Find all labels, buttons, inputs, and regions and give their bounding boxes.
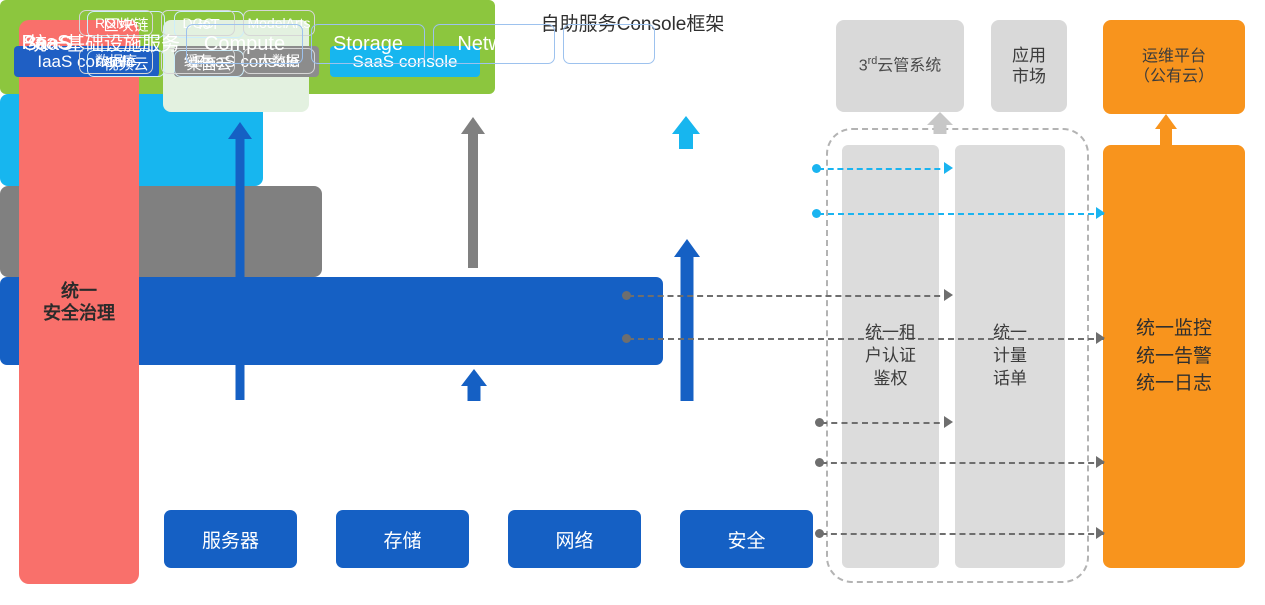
third-party-cloud-mgmt-label: 3rd云管系统 [859, 55, 942, 76]
arrow-shared-to-third-party [927, 112, 953, 134]
infra-chip-3-label: CCE [588, 33, 630, 56]
connector-saas-to-auth [818, 168, 950, 170]
security-governance-line2: 安全治理 [43, 302, 115, 325]
mid-col-0-line2: 户认证 [865, 345, 916, 368]
hardware-2-label: 网络 [555, 526, 593, 553]
ops-platform-header-line1: 运维平台 [1134, 47, 1214, 67]
infra-chip-compute[interactable]: Compute [186, 24, 303, 64]
third-party-suffix: 云管系统 [877, 58, 941, 75]
ops-platform-header-box[interactable]: 运维平台 （公有云） [1103, 20, 1245, 114]
connector-arrowhead-saas-ops [1096, 207, 1105, 219]
app-market-line2: 市场 [1012, 66, 1046, 87]
hardware-box-storage[interactable]: 存储 [336, 510, 469, 568]
unified-tenant-auth-column[interactable]: 统一租 户认证 鉴权 [842, 145, 939, 568]
connector-saas-to-ops [818, 213, 1104, 215]
ops-platform-body-line1: 统一监控 [1136, 315, 1212, 343]
connector-infra-to-auth [821, 422, 950, 424]
security-governance-panel[interactable]: 统一 安全治理 [19, 20, 139, 584]
ops-platform-header-line2: （公有云） [1134, 67, 1214, 87]
connector-arrowhead-infra-ops [1096, 456, 1105, 468]
infra-chip-2-label: Network [457, 33, 530, 56]
connector-paas-to-auth [628, 295, 950, 297]
third-party-prefix: 3 [859, 58, 868, 75]
connector-infra-to-ops [821, 462, 1104, 464]
app-market-line1: 应用 [1012, 45, 1046, 66]
connector-arrowhead-paas-ops [1096, 332, 1105, 344]
arrow-infra-to-paas [461, 369, 487, 401]
ops-platform-body-line3: 统一日志 [1136, 370, 1212, 398]
third-party-cloud-mgmt-box[interactable]: 3rd云管系统 [836, 20, 964, 112]
infra-chip-1-label: Storage [333, 33, 403, 56]
security-governance-line1: 统一 [43, 280, 115, 303]
infra-chip-storage[interactable]: Storage [311, 24, 425, 64]
arrow-paas-to-console [461, 117, 485, 268]
hardware-box-security[interactable]: 安全 [680, 510, 813, 568]
arrow-saas-to-console [672, 116, 700, 149]
hardware-3-label: 安全 [727, 526, 765, 553]
ops-platform-body-panel[interactable]: 统一监控 统一告警 统一日志 [1103, 145, 1245, 568]
mid-col-1-line2: 计量 [993, 345, 1027, 368]
ops-platform-body-line2: 统一告警 [1136, 343, 1212, 371]
connector-arrowhead-paas-auth [944, 289, 953, 301]
hardware-0-label: 服务器 [202, 526, 259, 553]
arrow-to-ops-platform [1155, 114, 1177, 146]
hardware-box-server[interactable]: 服务器 [164, 510, 297, 568]
architecture-diagram: 统一 安全治理 API网关 自助服务Console框架 IaaS console… [0, 0, 1265, 605]
hardware-1-label: 存储 [383, 526, 421, 553]
mid-col-1-line1: 统一 [993, 322, 1027, 345]
connector-hardware-to-ops [821, 533, 1104, 535]
third-party-superscript: rd [868, 55, 878, 67]
infra-chip-0-label: Compute [204, 33, 285, 56]
connector-arrowhead-hardware-ops [1096, 527, 1105, 539]
connector-arrowhead-saas-auth [944, 162, 953, 174]
arrow-infra-to-api-gateway [228, 122, 252, 400]
mid-col-1-line3: 话单 [993, 368, 1027, 391]
mid-col-0-line3: 鉴权 [865, 368, 916, 391]
infra-chip-network[interactable]: Network [433, 24, 555, 64]
hardware-box-network[interactable]: 网络 [508, 510, 641, 568]
connector-arrowhead-infra-auth [944, 416, 953, 428]
unified-metering-billing-column[interactable]: 统一 计量 话单 [955, 145, 1065, 568]
unified-infrastructure-label: 统一基础设施服务 [14, 29, 194, 56]
infra-chip-cce[interactable]: CCE [563, 24, 655, 64]
arrow-infra-to-saas [674, 239, 700, 401]
app-market-box[interactable]: 应用 市场 [991, 20, 1067, 112]
mid-col-0-line1: 统一租 [865, 322, 916, 345]
